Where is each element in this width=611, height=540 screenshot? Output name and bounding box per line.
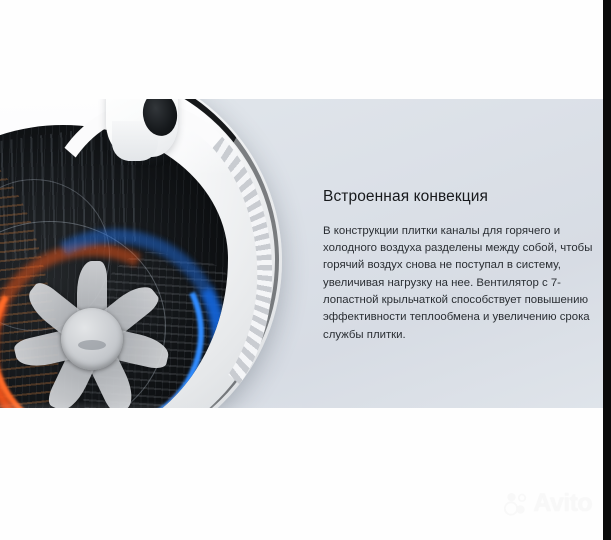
avito-watermark: Avito [504, 491, 592, 516]
avito-watermark-text: Avito [533, 491, 592, 516]
product-image-cooktop-cutaway [0, 99, 302, 408]
right-edge-black-bar [603, 0, 611, 540]
feature-headline: Встроенная конвекция [323, 188, 595, 207]
page-root: Встроенная конвекция В конструкции плитк… [0, 0, 611, 540]
bottom-white-margin [0, 408, 611, 540]
product-feature-banner: Встроенная конвекция В конструкции плитк… [0, 99, 603, 408]
feature-description: В конструкции плитки каналы для горячего… [323, 223, 595, 344]
control-knob [106, 99, 178, 157]
top-white-margin [0, 0, 611, 99]
feature-text-block: Встроенная конвекция В конструкции плитк… [323, 188, 595, 344]
avito-logo-icon [504, 492, 530, 516]
